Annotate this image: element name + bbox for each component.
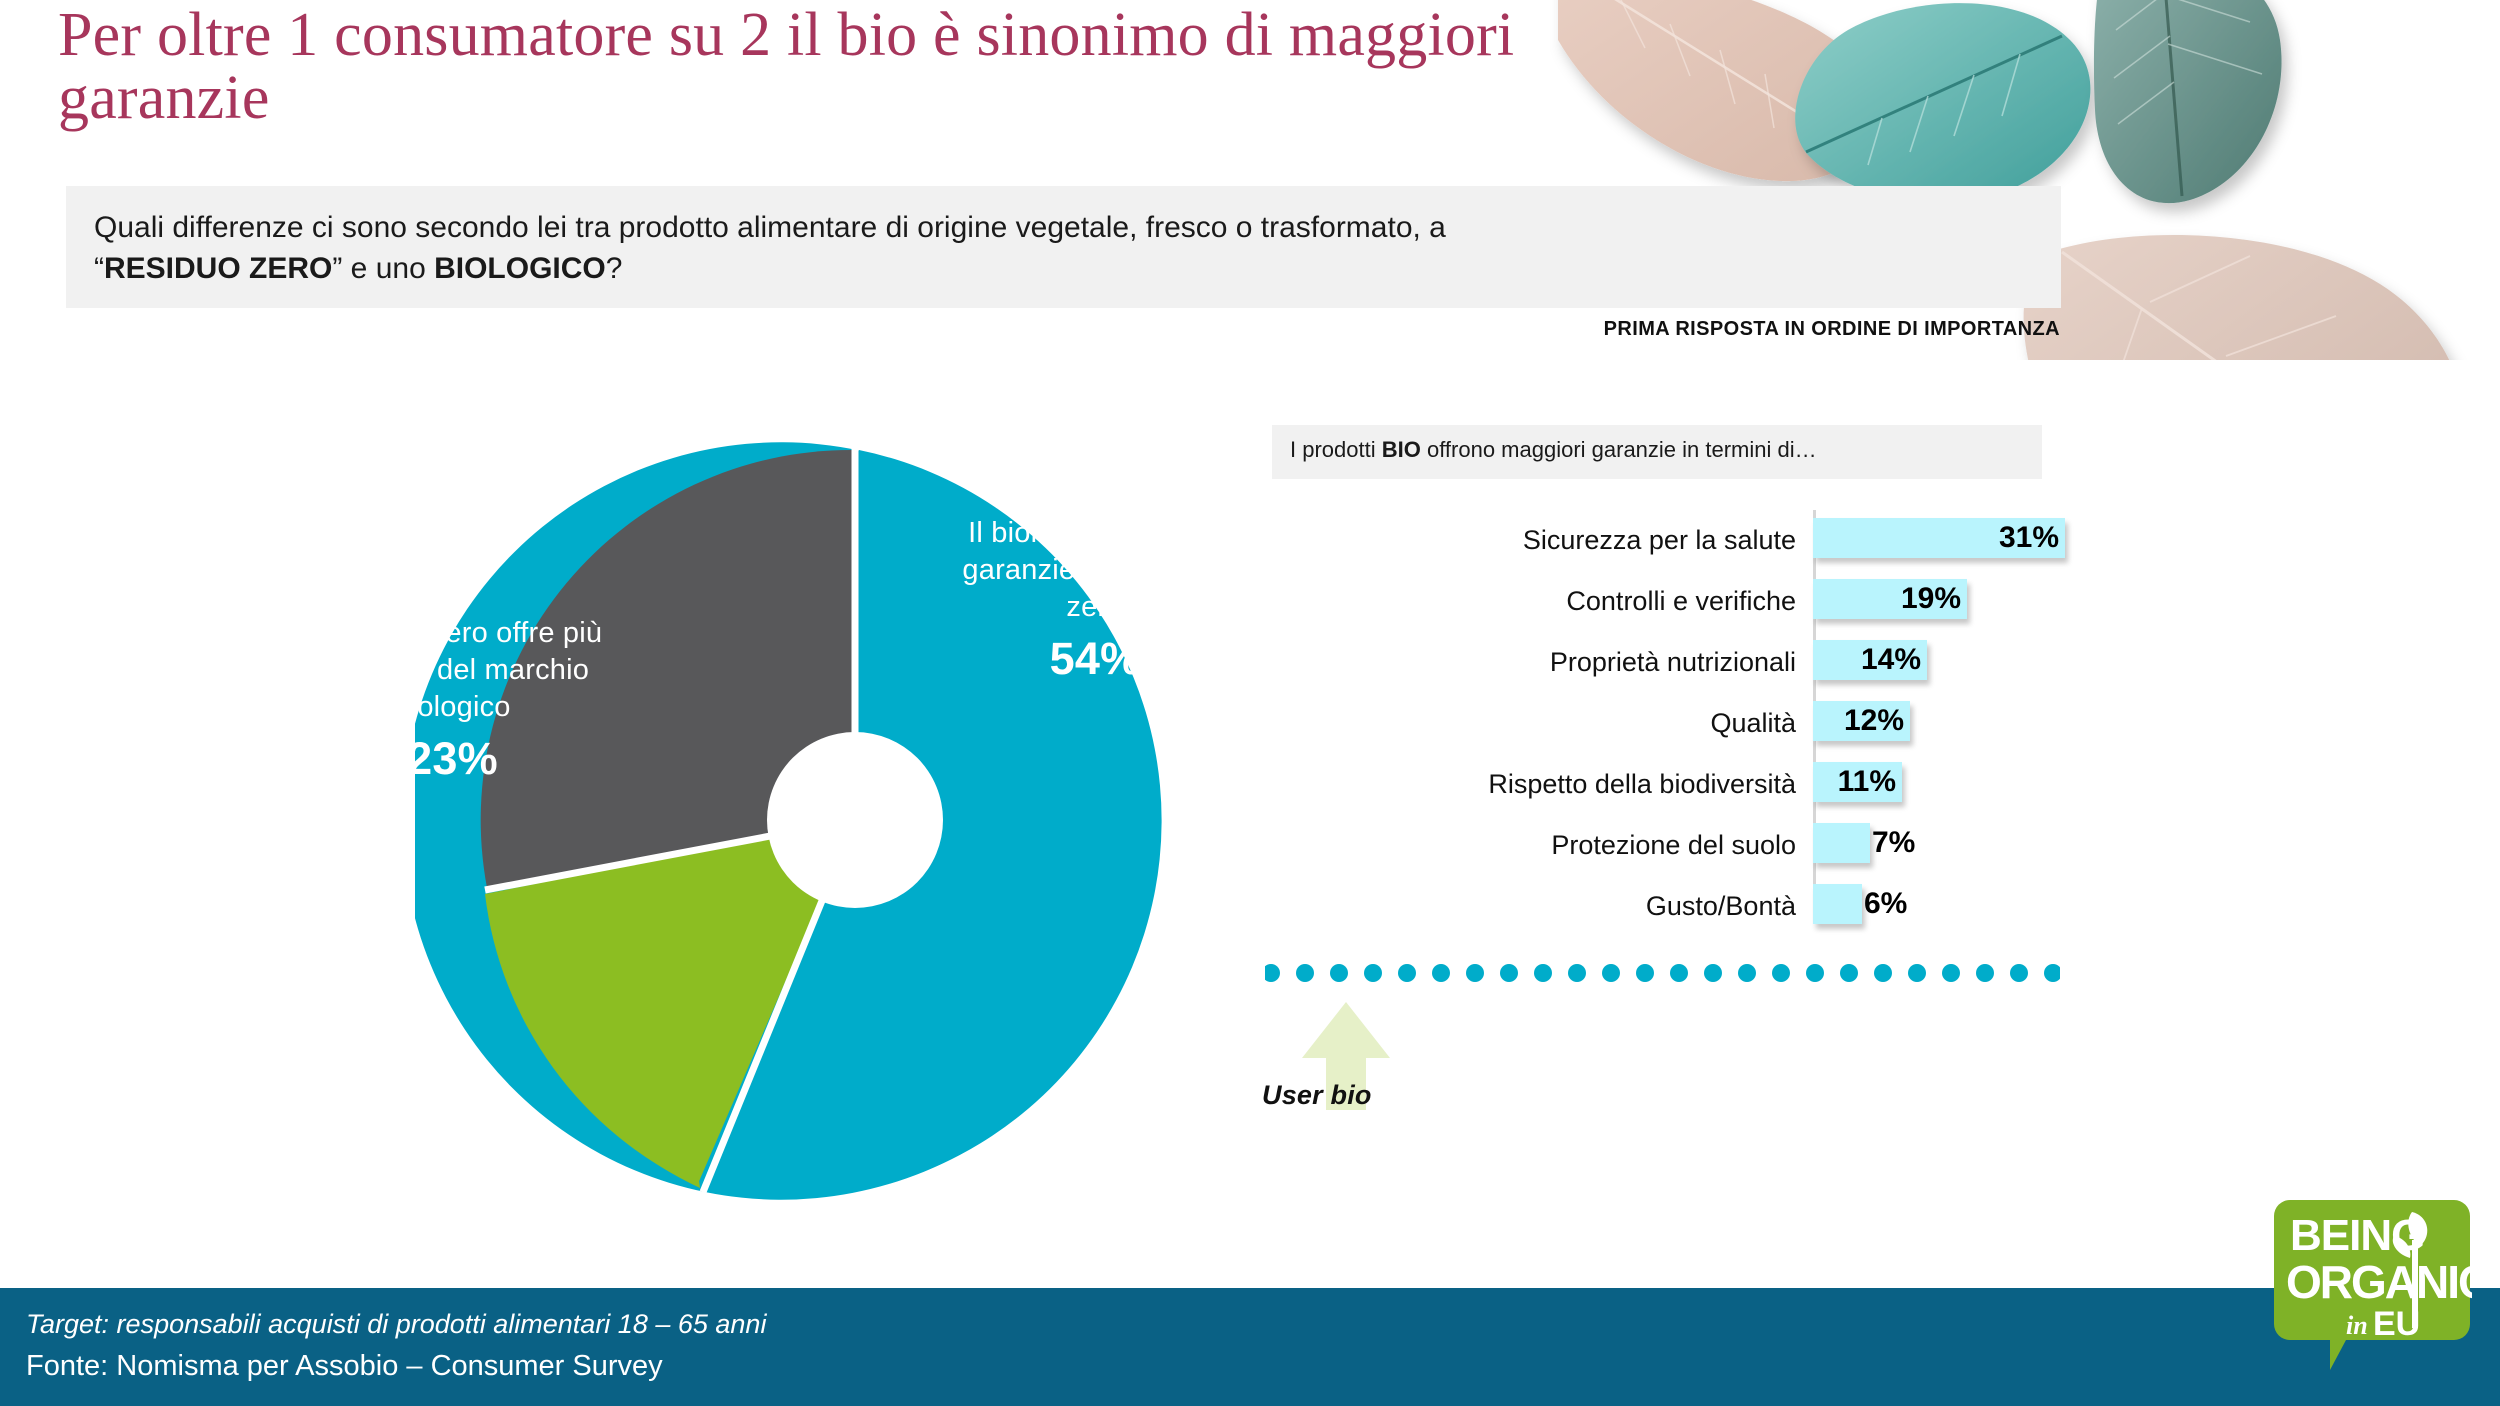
question-mark: ? <box>606 252 623 285</box>
bar-header-post: offrono maggiori garanzie in termini di… <box>1421 437 1817 462</box>
bar-value-label: 12% <box>1844 704 1910 738</box>
pie-label-residuo-zero-text: Il residuo zero offre più garanzie del m… <box>303 617 602 723</box>
pie-label-nessuna-differenza-value: 23% <box>470 396 770 454</box>
bar-category-label: Rispetto della biodiversità <box>1280 769 1810 800</box>
bar-category-label: Gusto/Bontà <box>1280 891 1810 922</box>
bar-header-bio: BIO <box>1382 437 1421 462</box>
bar-fill: 6% <box>1813 884 1862 924</box>
bar-value-label: 14% <box>1861 643 1927 677</box>
question-line-1: Quali differenze ci sono secondo lei tra… <box>94 208 2033 249</box>
bar-header-pre: I prodotti <box>1290 437 1382 462</box>
bar-category-label: Qualità <box>1280 708 1810 739</box>
bar-row: Sicurezza per la salute31% <box>1280 510 2100 571</box>
question-connector: ” e uno <box>332 252 434 285</box>
slide-root: Per oltre 1 consumatore su 2 il bio è si… <box>0 0 2500 1406</box>
bar-fill: 11% <box>1813 762 1902 802</box>
footer-target: Target: responsabili acquisti di prodott… <box>26 1304 2500 1345</box>
bar-row: Protezione del suolo7% <box>1280 815 2100 876</box>
leaf-pink-icon <box>2024 235 2465 360</box>
footer-bar: Target: responsabili acquisti di prodott… <box>0 1288 2500 1406</box>
bar-track: 6% <box>1810 876 2100 937</box>
bar-value-label: 7% <box>1870 826 1915 860</box>
bar-track: 7% <box>1810 815 2100 876</box>
being-organic-in-eu-logo: BEING ORGANIC in EU <box>2272 1194 2472 1384</box>
pie-chart: Il biologico offre più garanzie del resi… <box>415 410 1295 1250</box>
bar-row: Qualità12% <box>1280 693 2100 754</box>
bar-category-label: Proprietà nutrizionali <box>1280 647 1810 678</box>
bar-track: 11% <box>1810 754 2100 815</box>
page-title: Per oltre 1 consumatore su 2 il bio è si… <box>58 4 1578 130</box>
pie-label-residuo-zero-value: 23% <box>280 730 625 788</box>
pie-label-biologico: Il biologico offre più garanzie del resi… <box>930 515 1260 688</box>
term-residuo-zero: RESIDUO ZERO <box>104 252 332 285</box>
pie-label-biologico-value: 54% <box>930 630 1260 688</box>
bar-category-label: Controlli e verifiche <box>1280 586 1810 617</box>
quote-open: “ <box>94 252 104 285</box>
ordering-note: PRIMA RISPOSTA IN ORDINE DI IMPORTANZA <box>1520 318 2060 341</box>
leaf-beige-icon <box>1558 0 1883 181</box>
bar-fill: 19% <box>1813 579 1967 619</box>
pie-label-biologico-text: Il biologico offre più garanzie del resi… <box>962 517 1227 623</box>
bar-value-label: 19% <box>1901 582 1967 616</box>
pie-label-nessuna-differenza-text: Nessuna differenza <box>494 357 747 389</box>
bar-row: Gusto/Bontà6% <box>1280 876 2100 937</box>
bar-row: Rispetto della biodiversità11% <box>1280 754 2100 815</box>
bar-chart-header: I prodotti BIO offrono maggiori garanzie… <box>1272 425 2042 479</box>
donut-hole <box>767 732 943 908</box>
question-banner: Quali differenze ci sono secondo lei tra… <box>66 186 2061 308</box>
bar-track: 31% <box>1810 510 2100 571</box>
bar-chart: Sicurezza per la salute31%Controlli e ve… <box>1280 510 2100 937</box>
bar-fill: 31% <box>1813 518 2065 558</box>
dotted-connector <box>1265 962 2060 984</box>
bar-value-label: 6% <box>1862 887 1907 921</box>
bar-track: 12% <box>1810 693 2100 754</box>
question-line-2: “RESIDUO ZERO” e uno BIOLOGICO? <box>94 249 2033 290</box>
footer-source: Fonte: Nomisma per Assobio – Consumer Su… <box>26 1345 2500 1389</box>
term-biologico: BIOLOGICO <box>434 252 606 285</box>
bar-chart-rows: Sicurezza per la salute31%Controlli e ve… <box>1280 510 2100 937</box>
pie-label-residuo-zero: Il residuo zero offre più garanzie del m… <box>280 615 625 788</box>
bar-row: Proprietà nutrizionali14% <box>1280 632 2100 693</box>
bar-row: Controlli e verifiche19% <box>1280 571 2100 632</box>
bar-value-label: 31% <box>1999 521 2065 555</box>
user-bio-caption: User bio <box>1262 1080 1372 1111</box>
bar-value-label: 11% <box>1838 765 1902 799</box>
bar-fill: 14% <box>1813 640 1927 680</box>
bar-fill: 12% <box>1813 701 1910 741</box>
logo-text-organic: ORGANIC <box>2286 1256 2472 1308</box>
pie-label-nessuna-differenza: Nessuna differenza 23% <box>470 355 770 454</box>
bar-track: 14% <box>1810 632 2100 693</box>
bar-category-label: Sicurezza per la salute <box>1280 525 1810 556</box>
logo-svg: BEING ORGANIC in EU <box>2272 1194 2472 1384</box>
bar-track: 19% <box>1810 571 2100 632</box>
dotted-connector-svg <box>1265 962 2060 984</box>
leaf-darkgreen-icon <box>2094 0 2282 203</box>
leaf-teal-icon <box>1795 3 2090 203</box>
bar-fill: 7% <box>1813 823 1870 863</box>
logo-text-in: in <box>2346 1311 2368 1340</box>
bar-category-label: Protezione del suolo <box>1280 830 1810 861</box>
